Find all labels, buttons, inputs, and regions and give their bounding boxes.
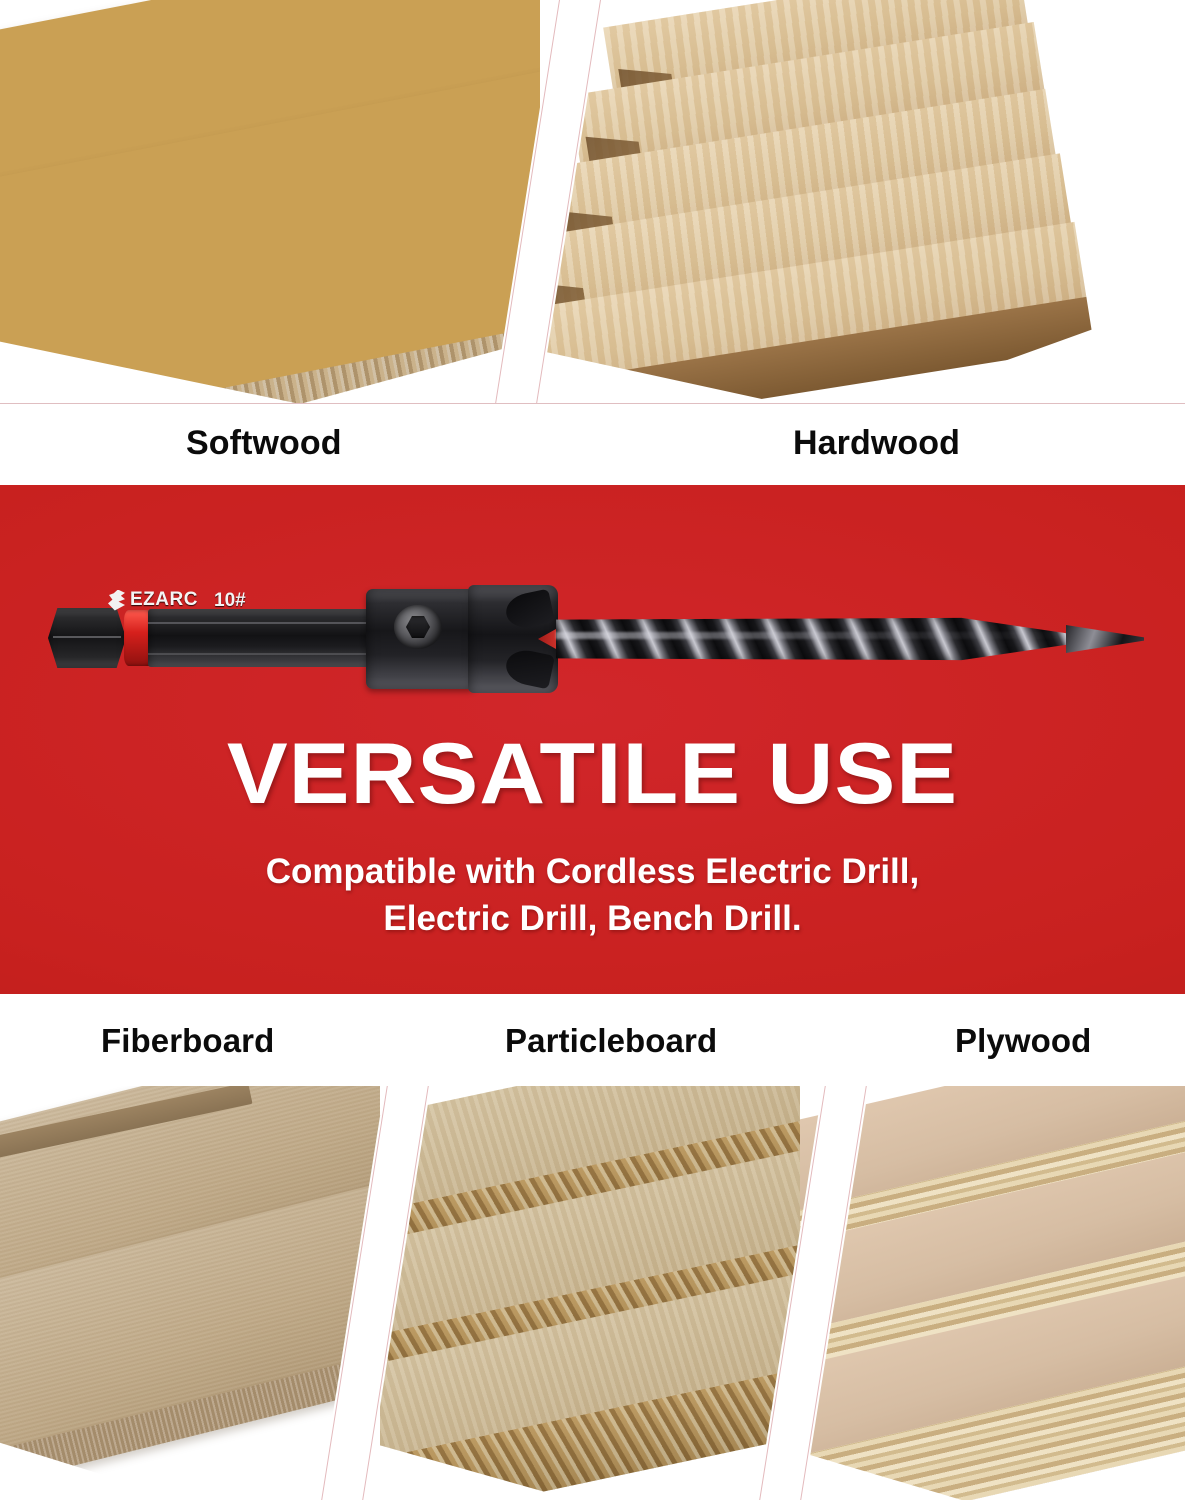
material-label-particleboard: Particleboard bbox=[505, 1022, 717, 1060]
hero-subtitle: Compatible with Cordless Electric Drill,… bbox=[0, 848, 1185, 942]
grub-screw-ring bbox=[394, 605, 442, 649]
cutter-flute-top bbox=[503, 589, 555, 632]
countersink-collar bbox=[366, 589, 476, 689]
material-label-plywood: Plywood bbox=[955, 1022, 1091, 1060]
hex-shank-icon bbox=[48, 608, 126, 668]
cutter-flute-bottom bbox=[503, 647, 555, 690]
bit-size-marking: 10# bbox=[214, 590, 246, 612]
hero-subtitle-line-1: Compatible with Cordless Electric Drill, bbox=[0, 848, 1185, 895]
hex-socket-icon bbox=[406, 616, 430, 638]
particleboard-photo bbox=[380, 1086, 820, 1500]
bottom-label-band: Fiberboard Particleboard Plywood bbox=[0, 994, 1185, 1086]
hardwood-photo bbox=[540, 0, 1185, 404]
material-label-softwood: Softwood bbox=[186, 424, 342, 463]
ezarc-mark-icon bbox=[108, 590, 125, 611]
brand-logo: EZARC bbox=[108, 589, 198, 611]
cutter-edge bbox=[538, 629, 556, 649]
top-label-band: Softwood Hardwood bbox=[0, 404, 1185, 485]
top-hairline-divider bbox=[0, 403, 1185, 404]
bit-body-shaft bbox=[148, 609, 373, 667]
hero-banner: EZARC 10# VERSATILE USE Compatible with bbox=[0, 485, 1185, 994]
product-feature-image: Softwood Hardwood EZARC 10# bbox=[0, 0, 1185, 1500]
countersink-drill-bit-image: EZARC 10# bbox=[48, 573, 1153, 703]
top-material-photo-row bbox=[0, 0, 1185, 404]
twist-drill-flutes bbox=[556, 617, 1076, 661]
hero-subtitle-line-2: Electric Drill, Bench Drill. bbox=[0, 895, 1185, 942]
countersink-cutter-head bbox=[468, 585, 558, 693]
material-label-fiberboard: Fiberboard bbox=[101, 1022, 274, 1060]
brand-name-text: EZARC bbox=[130, 589, 198, 611]
bottom-material-photo-row bbox=[0, 1086, 1185, 1500]
drill-tip bbox=[1066, 625, 1144, 653]
material-label-hardwood: Hardwood bbox=[793, 424, 960, 463]
hero-title: VERSATILE USE bbox=[0, 728, 1185, 820]
